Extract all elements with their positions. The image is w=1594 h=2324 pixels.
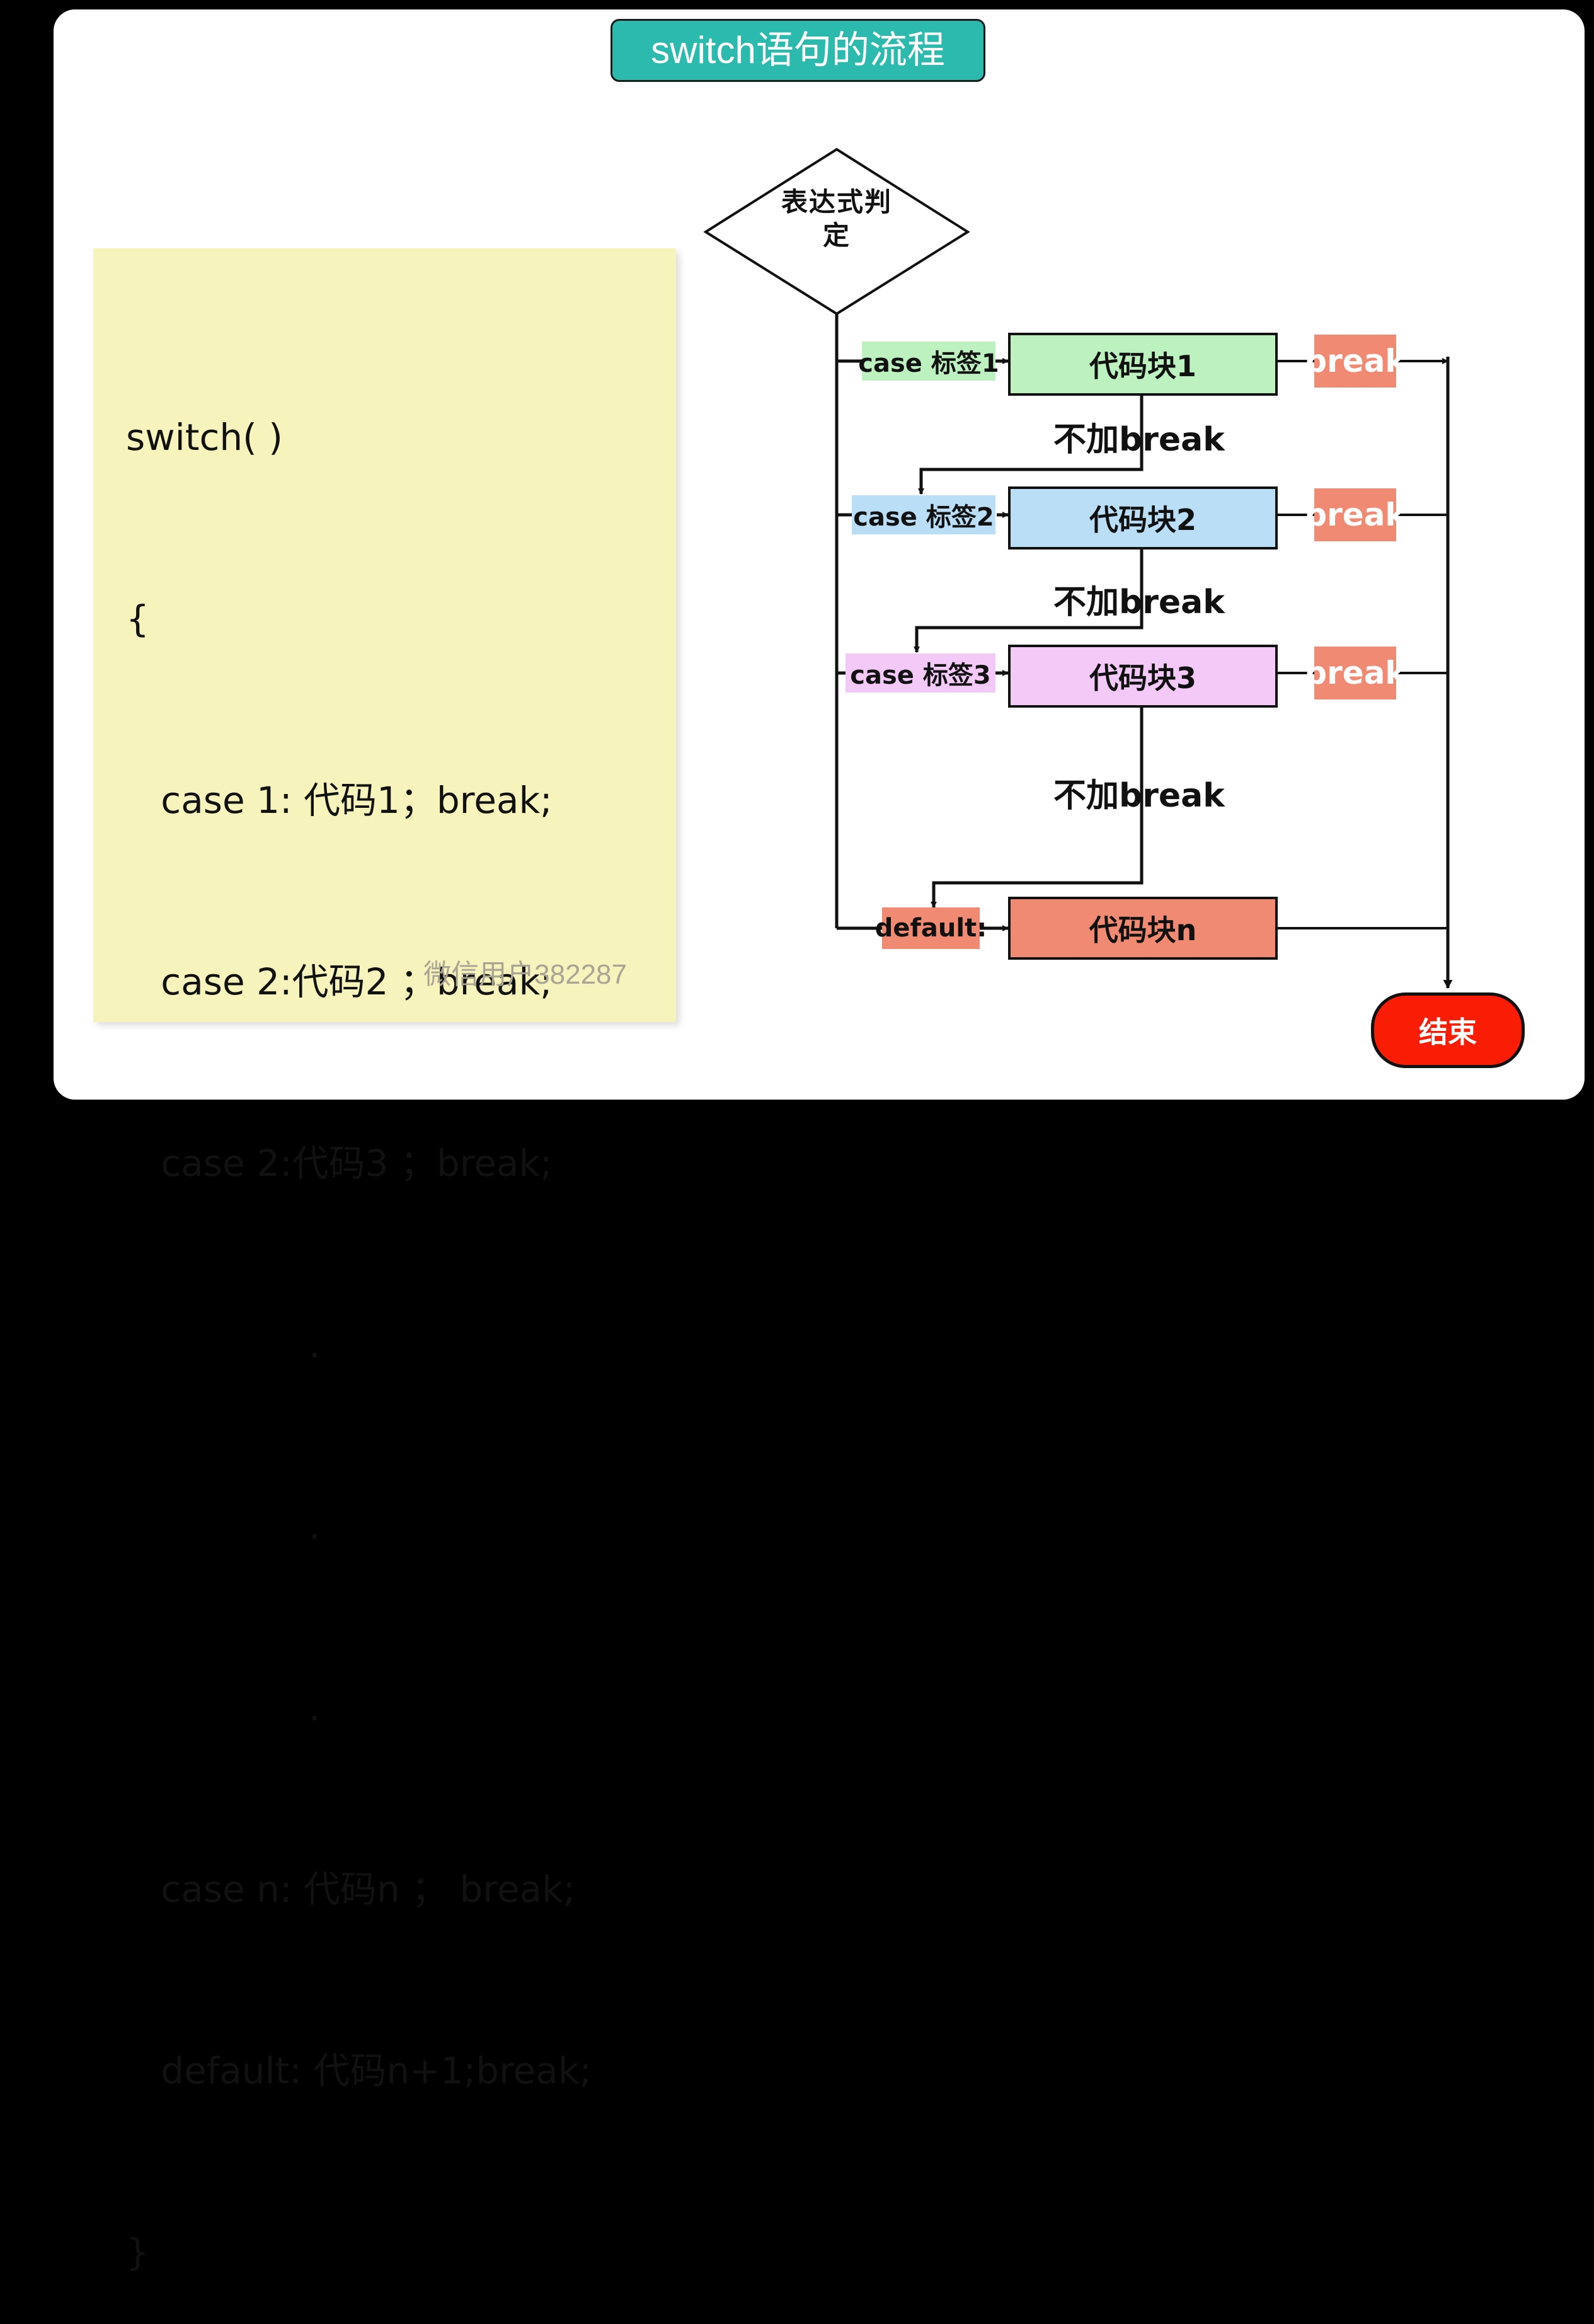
fallthrough-label-1: 不加break: [1053, 413, 1225, 460]
code-block-default-text: 代码块n: [1089, 907, 1197, 949]
break-box-1-text: break: [1304, 343, 1406, 379]
ellipsis-dot: .: [126, 1677, 676, 1738]
decision-label-line1: 表达式判: [704, 186, 969, 219]
case-label-2-text: case 标签2: [853, 497, 994, 533]
case-label-2: case 标签2: [852, 495, 995, 534]
break-box-3: break: [1314, 647, 1396, 699]
code-block-1-text: 代码块1: [1089, 343, 1196, 385]
code-line: case 2:代码3 ；break;: [126, 1133, 676, 1194]
code-block-3: 代码块3: [1008, 645, 1278, 708]
case-label-3-text: case 标签3: [850, 655, 990, 691]
case-label-default: default:: [882, 907, 980, 949]
break-box-1: break: [1314, 335, 1396, 388]
watermark-text: 微信用户382287: [423, 952, 627, 992]
fallthrough-label-3: 不加break: [1053, 769, 1225, 816]
end-node: 结束: [1371, 992, 1525, 1068]
code-line: switch( ): [126, 407, 676, 468]
ellipsis-dot: .: [126, 1496, 676, 1556]
code-block-2: 代码块2: [1008, 486, 1278, 549]
case-label-default-text: default:: [875, 914, 987, 943]
code-line: default: 代码n+1;break;: [126, 2040, 676, 2101]
diagram-title-text: switch语句的流程: [651, 32, 945, 69]
case-label-3: case 标签3: [846, 653, 995, 693]
code-snippet-text: switch( ) { case 1: 代码1；break; case 2:代码…: [93, 286, 676, 2324]
code-line: }: [126, 2222, 676, 2282]
diagram-canvas: switch语句的流程 表达式判 定 switch( ) { case 1: 代…: [0, 0, 1594, 1162]
code-block-2-text: 代码块2: [1089, 497, 1196, 539]
diagram-title: switch语句的流程: [611, 19, 985, 82]
decision-node: 表达式判 定: [704, 148, 969, 315]
break-box-2-text: break: [1304, 497, 1406, 533]
break-box-3-text: break: [1304, 655, 1406, 691]
code-line: case n: 代码n ； break;: [126, 1859, 676, 1919]
case-label-1-text: case 标签1: [858, 343, 999, 379]
case-label-1: case 标签1: [862, 342, 995, 381]
fallthrough-label-2: 不加break: [1053, 575, 1225, 623]
code-line: case 1: 代码1；break;: [126, 770, 676, 831]
code-block-default: 代码块n: [1008, 897, 1278, 960]
code-block-1: 代码块1: [1008, 333, 1278, 396]
end-node-text: 结束: [1419, 1010, 1477, 1051]
code-block-3-text: 代码块3: [1089, 655, 1196, 697]
decision-label: 表达式判 定: [704, 186, 969, 252]
decision-label-line2: 定: [704, 219, 969, 253]
code-snippet-card: switch( ) { case 1: 代码1；break; case 2:代码…: [93, 248, 676, 1022]
ellipsis-dot: .: [126, 1314, 676, 1375]
code-line: {: [126, 589, 676, 649]
break-box-2: break: [1314, 488, 1396, 541]
